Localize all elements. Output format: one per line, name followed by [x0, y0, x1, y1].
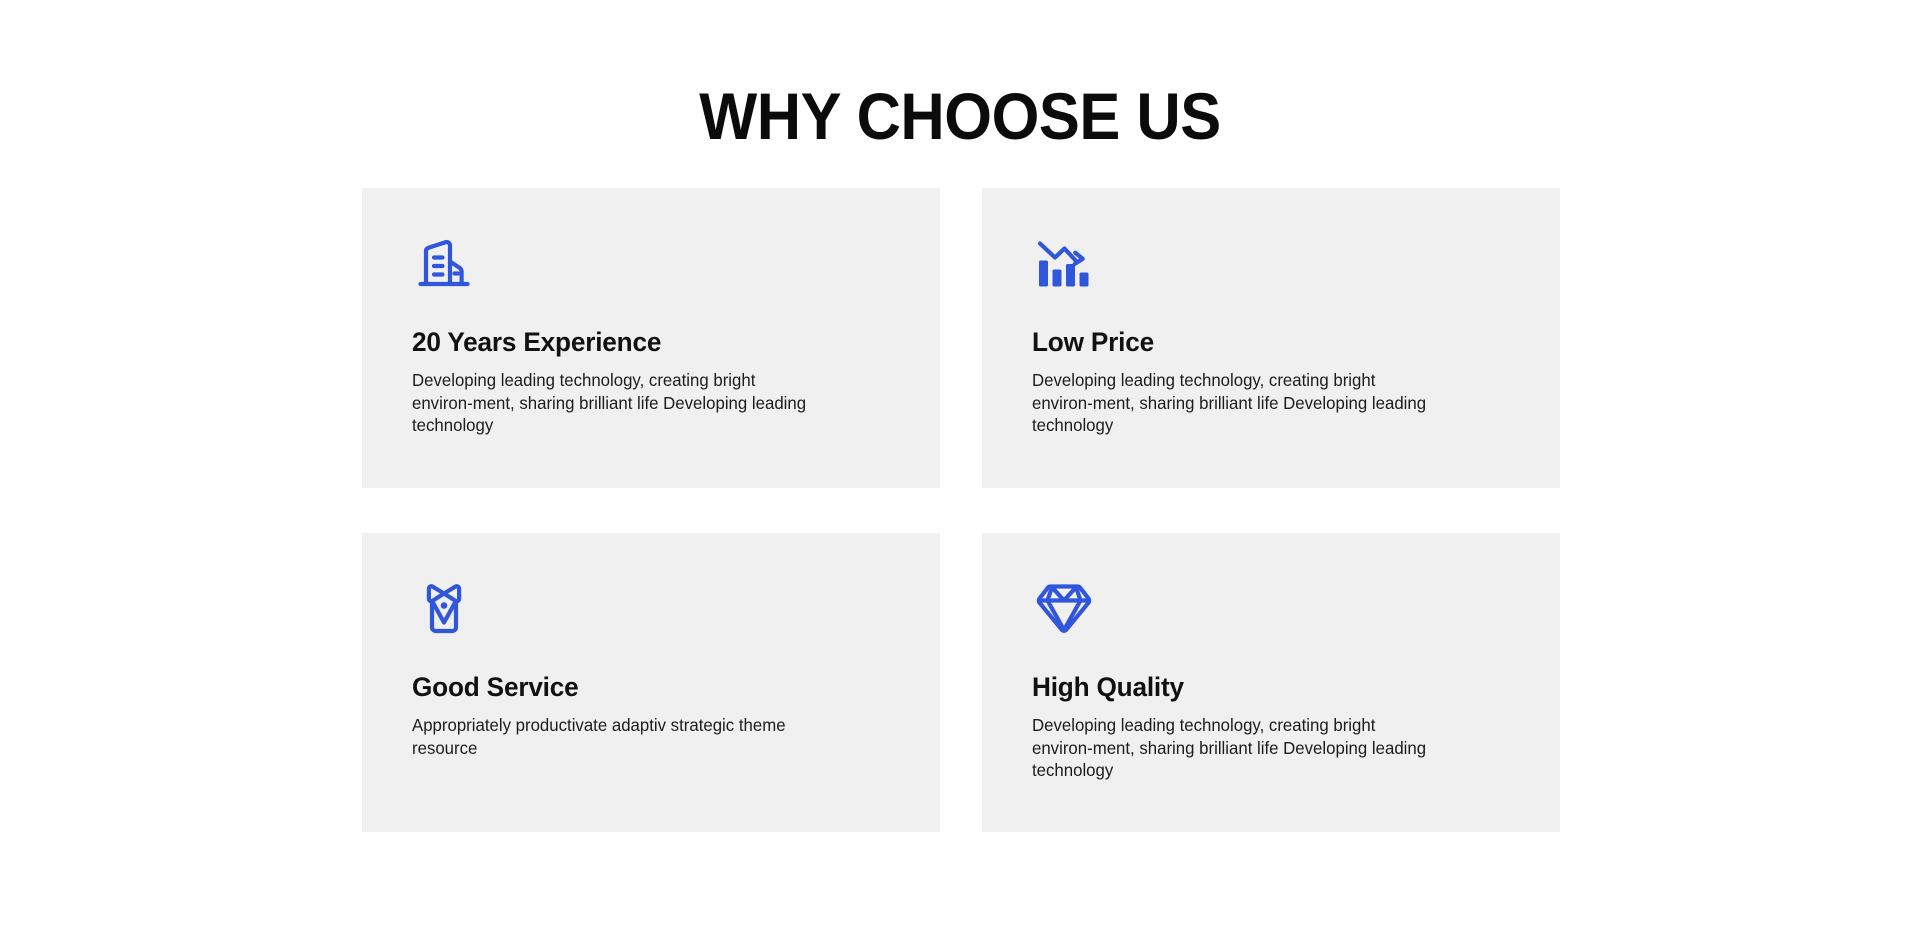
card-title: Good Service	[412, 671, 876, 703]
declining-bar-chart-icon	[1032, 232, 1096, 296]
card-title: High Quality	[1032, 671, 1496, 703]
card-description: Appropriately productivate adaptiv strat…	[412, 714, 815, 759]
page-title: WHY CHOOSE US	[67, 78, 1853, 154]
card-description: Developing leading technology, creating …	[412, 369, 815, 437]
card-description: Developing leading technology, creating …	[1032, 369, 1435, 437]
building-icon	[412, 232, 476, 296]
card-description: Developing leading technology, creating …	[1032, 714, 1435, 782]
why-choose-us-section: WHY CHOOSE US 20 Years Experience Develo…	[0, 0, 1920, 930]
card-title: Low Price	[1032, 326, 1496, 358]
feature-card-high-quality[interactable]: High Quality Developing leading technolo…	[982, 533, 1560, 832]
feature-card-good-service[interactable]: Good Service Appropriately productivate …	[362, 533, 940, 832]
card-title: 20 Years Experience	[412, 326, 876, 358]
feature-card-low-price[interactable]: Low Price Developing leading technology,…	[982, 188, 1560, 488]
features-grid: 20 Years Experience Developing leading t…	[362, 188, 1560, 832]
diamond-icon	[1032, 577, 1096, 641]
tuxedo-bowtie-icon	[412, 577, 476, 641]
feature-card-experience[interactable]: 20 Years Experience Developing leading t…	[362, 188, 940, 488]
